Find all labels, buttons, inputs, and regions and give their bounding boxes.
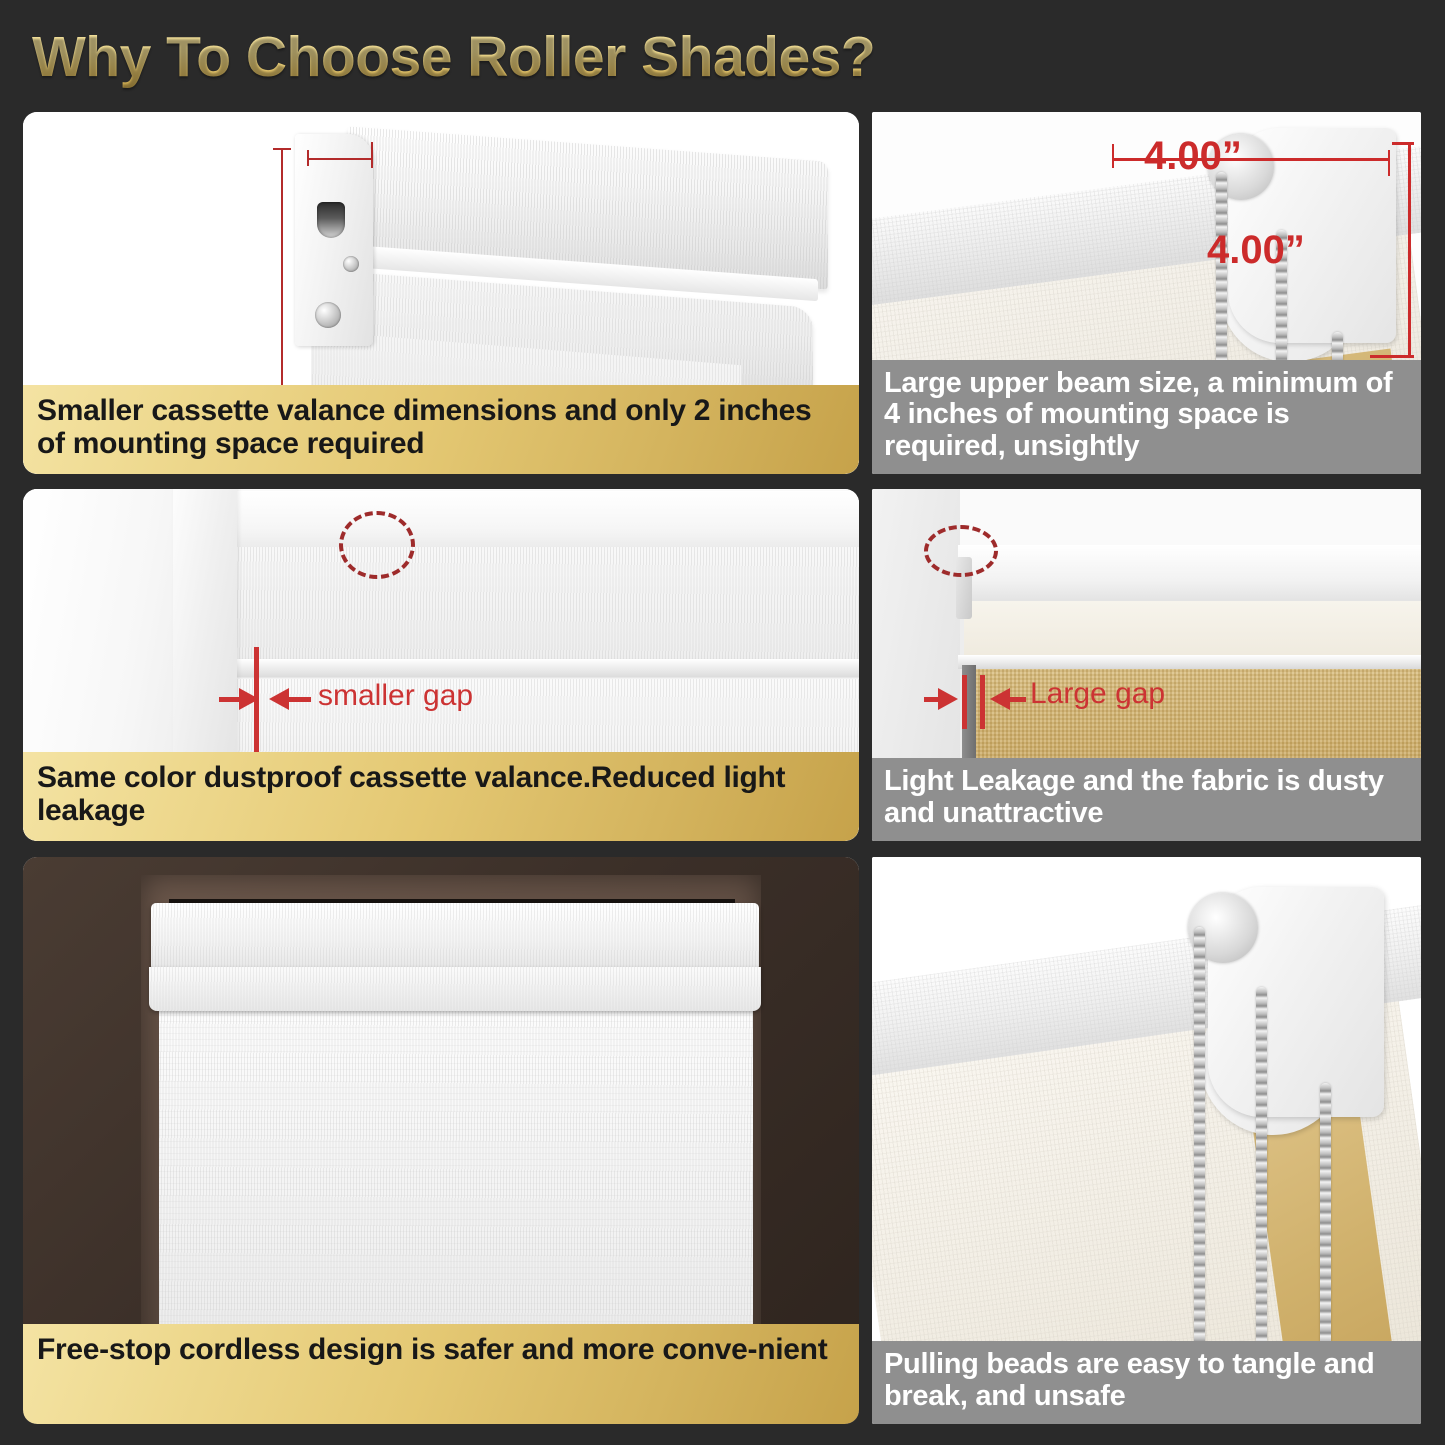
bead-chain-left[interactable]	[1194, 927, 1205, 1407]
dimension-line-width	[307, 158, 373, 160]
arrow-left-icon	[990, 688, 1010, 710]
dimension-label-width: 4.00”	[1144, 134, 1242, 179]
panel-bad-upper-beam-size: 4.00” 4.00” Large upper beam size, a min…	[872, 112, 1421, 474]
arrow-left-stem	[219, 697, 241, 702]
arrow-right-stem	[289, 697, 311, 702]
comparison-grid: 2.06” 5.49” Smaller cassette valance dim…	[0, 0, 1445, 1445]
pulling-beads-photo	[872, 857, 1421, 1424]
mid-rail	[958, 655, 1421, 669]
caption-good-dustproof-cassette: Same color dustproof cassette valance.Re…	[23, 752, 859, 841]
arrow-right-icon	[938, 688, 958, 710]
gap-callout-label: smaller gap	[318, 679, 473, 713]
panel-good-dustproof-cassette: smaller gap Same color dustproof cassett…	[23, 489, 859, 841]
cassette-valance-lower	[149, 967, 761, 1011]
panel-bad-pulling-beads: Pulling beads are easy to tangle and bre…	[872, 857, 1421, 1424]
shade-fabric-upper	[233, 547, 859, 663]
dimension-cap-bottom	[1370, 355, 1414, 358]
gap-indicator-left	[962, 675, 967, 729]
caption-bad-pulling-beads: Pulling beads are easy to tangle and bre…	[872, 1341, 1421, 1424]
gap-callout-label: Large gap	[1030, 677, 1165, 711]
highlight-circle-icon	[924, 525, 998, 577]
highlight-circle-icon	[339, 511, 415, 579]
roller-tube	[958, 545, 1421, 609]
dimension-cap-right	[371, 142, 373, 168]
caption-good-cordless-design: Free-stop cordless design is safer and m…	[23, 1324, 859, 1424]
dimension-cap-right	[1388, 150, 1390, 176]
dimension-line-height	[1408, 142, 1411, 357]
arrow-right-stem	[1010, 697, 1026, 702]
panel-good-valance-dimensions: 2.06” 5.49” Smaller cassette valance dim…	[23, 112, 859, 474]
caption-bad-upper-beam-size: Large upper beam size, a minimum of 4 in…	[872, 360, 1421, 474]
panel-bad-light-leakage: Large gap Light Leakage and the fabric i…	[872, 489, 1421, 841]
bracket-screw-lower	[315, 302, 341, 328]
shade-fabric-white	[964, 601, 1421, 659]
gap-indicator-right	[980, 675, 985, 729]
panel-good-cordless-design: Free-stop cordless design is safer and m…	[23, 857, 859, 1424]
cassette-valance	[151, 903, 759, 971]
caption-bad-light-leakage: Light Leakage and the fabric is dusty an…	[872, 758, 1421, 841]
dimension-label-height: 4.00”	[1207, 228, 1305, 273]
window-header-trim	[209, 491, 859, 553]
bracket-screw-upper	[343, 256, 359, 272]
dimension-cap-left	[307, 150, 309, 166]
dimension-cap-left	[1112, 144, 1114, 168]
dimension-cap-top	[273, 148, 291, 150]
arrow-left-icon	[269, 688, 289, 710]
dimension-cap-top	[1392, 142, 1414, 145]
bracket-slot	[317, 202, 345, 238]
arrow-right-icon	[239, 688, 259, 710]
shade-fabric	[159, 1009, 753, 1339]
caption-good-valance-dimensions: Smaller cassette valance dimensions and …	[23, 385, 859, 474]
mid-rail	[229, 659, 859, 677]
